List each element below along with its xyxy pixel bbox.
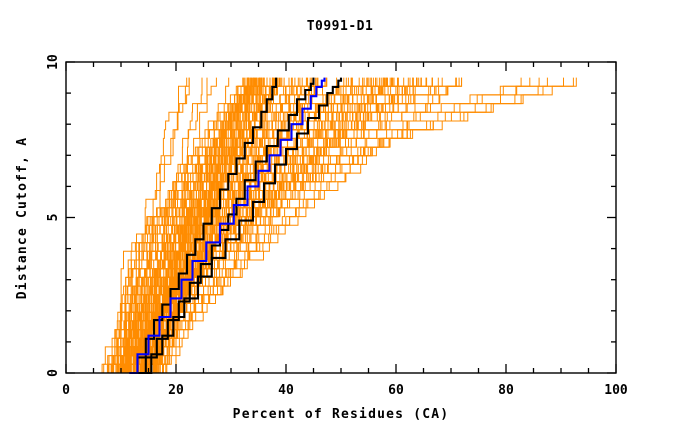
x-tick-label: 0 bbox=[62, 383, 70, 398]
x-tick-label: 20 bbox=[168, 383, 184, 398]
x-tick-label: 40 bbox=[278, 383, 294, 398]
x-tick-labels: 020406080100 bbox=[62, 383, 628, 398]
x-axis-label: Percent of Residues (CA) bbox=[233, 407, 450, 422]
chart-title: T0991-D1 bbox=[307, 19, 374, 34]
y-axis-label: Distance Cutoff, A bbox=[15, 137, 30, 299]
distance-cutoff-plot: T0991-D1 Distance Cutoff, A Percent of R… bbox=[0, 0, 680, 440]
y-tick-labels: 0510 bbox=[46, 54, 61, 377]
chart-container: T0991-D1 Distance Cutoff, A Percent of R… bbox=[0, 0, 680, 440]
x-tick-label: 80 bbox=[498, 383, 514, 398]
y-tick-label: 5 bbox=[46, 214, 61, 222]
x-tick-label: 60 bbox=[388, 383, 404, 398]
y-tick-label: 0 bbox=[46, 369, 61, 377]
x-tick-label: 100 bbox=[604, 383, 628, 398]
y-tick-label: 10 bbox=[46, 54, 61, 70]
reference-curves-group bbox=[99, 78, 576, 373]
